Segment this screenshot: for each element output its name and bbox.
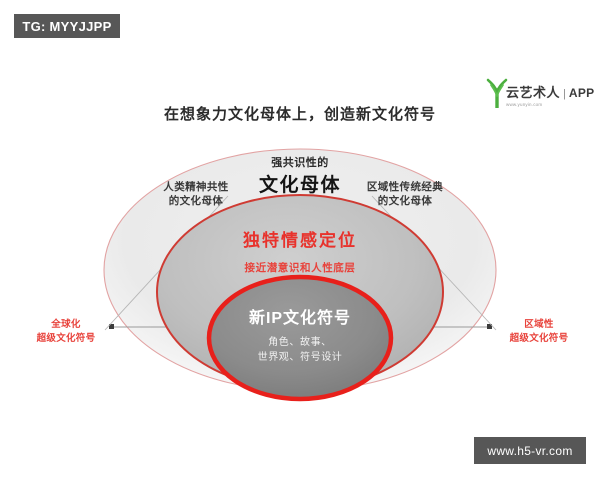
watermark-top-left: TG: MYYJJPP <box>14 14 120 38</box>
endpoint-label-right: 区域性 超级文化符号 <box>496 318 582 347</box>
core-label: 新IP文化符号 角色、故事、 世界观、符号设计 <box>218 308 382 365</box>
outer-ring-right-note-line1: 区域性传统经典 <box>352 180 458 194</box>
endpoint-label-right-line2: 超级文化符号 <box>496 332 582 346</box>
screenshot-root: 在想象力文化母体上，创造新文化符号 云艺术人 | APP www.yunyin.… <box>0 0 600 480</box>
middle-ring-subtitle: 接近潜意识和人性底层 <box>205 261 395 275</box>
outer-ring-left-note-line2: 的文化母体 <box>146 194 246 208</box>
brand-separator: | <box>563 88 566 100</box>
endpoint-label-right-line1: 区域性 <box>496 318 582 332</box>
endpoint-label-left-line2: 超级文化符号 <box>24 332 108 346</box>
outer-ring-left-note-line1: 人类精神共性 <box>146 180 246 194</box>
endpoint-label-left-line1: 全球化 <box>24 318 108 332</box>
middle-ring-label: 独特情感定位 接近潜意识和人性底层 <box>205 230 395 275</box>
core-detail-line1: 角色、故事、 <box>218 335 382 350</box>
core-detail: 角色、故事、 世界观、符号设计 <box>218 335 382 365</box>
core-detail-line2: 世界观、符号设计 <box>218 350 382 365</box>
endpoint-label-left: 全球化 超级文化符号 <box>24 318 108 347</box>
watermark-bottom-right: www.h5-vr.com <box>474 437 586 464</box>
outer-ring-left-note: 人类精神共性 的文化母体 <box>146 180 246 208</box>
brand-text: 云艺术人 | APP www.yunyin.com <box>506 82 594 108</box>
outer-ring-right-note-line2: 的文化母体 <box>352 194 458 208</box>
core-title: 新IP文化符号 <box>218 308 382 330</box>
brand-url: www.yunyin.com <box>506 102 594 107</box>
brand-name: 云艺术人 <box>506 82 560 101</box>
middle-ring-title: 独特情感定位 <box>205 230 395 253</box>
brand-suffix: APP <box>569 86 595 100</box>
outer-ring-eyebrow: 强共识性的 <box>215 156 385 171</box>
brand-logo: 云艺术人 | APP www.yunyin.com <box>484 76 588 108</box>
outer-ring-right-note: 区域性传统经典 的文化母体 <box>352 180 458 208</box>
